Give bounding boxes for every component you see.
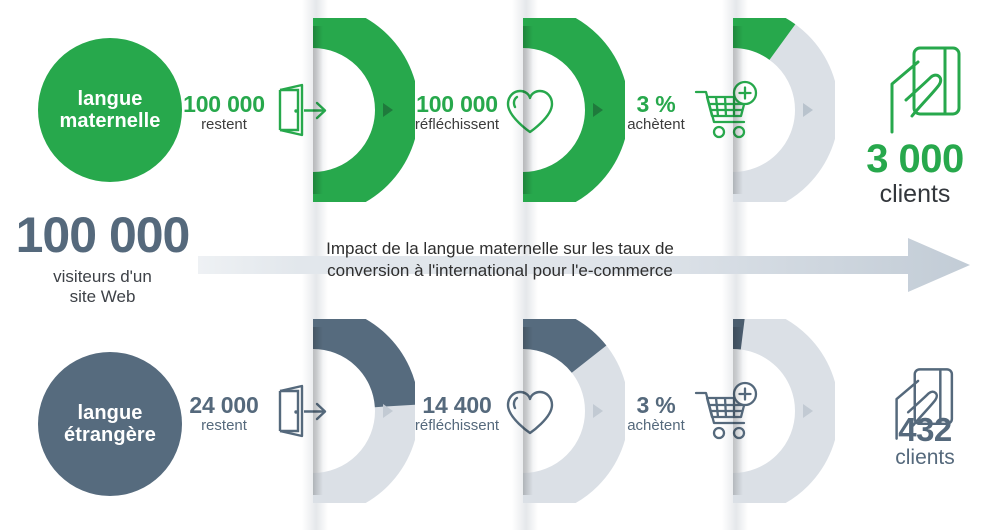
row-native-step-1-text: 100 000 restent xyxy=(178,93,270,133)
source-label-line1: visiteurs d'un xyxy=(0,267,205,287)
row-native-donut-2 xyxy=(515,18,625,202)
center-caption-line1: Impact de la langue maternelle sur les t… xyxy=(326,239,674,258)
hand-card-icon xyxy=(884,44,964,141)
source-label-line2: site Web xyxy=(0,287,205,307)
row-foreign-result: 432 clients xyxy=(850,414,1000,469)
row-foreign-step-2-label: réfléchissent xyxy=(398,418,516,433)
row-foreign-circle-line2: étrangère xyxy=(64,424,156,446)
row-foreign-step-1-number: 24 000 xyxy=(178,394,270,417)
row-native-donut-3 xyxy=(725,18,835,202)
row-native-circle-line1: langue xyxy=(77,88,142,110)
row-native-step-2-label: réfléchissent xyxy=(398,117,516,132)
row-native-step-3-label: achètent xyxy=(620,117,692,132)
row-foreign-donut-3 xyxy=(725,319,835,503)
row-foreign-step-3-label: achètent xyxy=(620,418,692,433)
center-caption: Impact de la langue maternelle sur les t… xyxy=(290,238,710,282)
row-foreign-step-3-number: 3 % xyxy=(620,394,692,417)
center-caption-line2: conversion à l'international pour l'e-co… xyxy=(327,261,673,280)
row-native-step-3-text: 3 % achètent xyxy=(620,93,692,133)
row-foreign-circle: langue étrangère xyxy=(38,352,182,496)
row-native-result: 3 000 clients xyxy=(830,140,1000,207)
row-native-sep-1 xyxy=(383,103,393,117)
row-native-step-2-number: 100 000 xyxy=(398,93,516,116)
row-foreign-step-1-label: restent xyxy=(178,418,270,433)
row-native-circle: langue maternelle xyxy=(38,38,182,182)
row-foreign-result-label: clients xyxy=(850,447,1000,469)
row-native-result-number: 3 000 xyxy=(830,140,1000,179)
row-foreign-result-number: 432 xyxy=(850,414,1000,446)
row-foreign-sep-3 xyxy=(803,404,813,418)
row-native-sep-2 xyxy=(593,103,603,117)
row-foreign-donut-2 xyxy=(515,319,625,503)
source-figure: 100 000 visiteurs d'un site Web xyxy=(0,212,205,307)
row-foreign-sep-2 xyxy=(593,404,603,418)
source-number: 100 000 xyxy=(0,212,205,260)
row-foreign-step-2-number: 14 400 xyxy=(398,394,516,417)
row-native-result-label: clients xyxy=(830,181,1000,207)
row-native-step-1-label: restent xyxy=(178,117,270,132)
row-foreign-sep-1 xyxy=(383,404,393,418)
row-native-step-3-number: 3 % xyxy=(620,93,692,116)
infographic-canvas: langue maternelle 100 000 restent xyxy=(0,0,1000,530)
row-native-step-1-number: 100 000 xyxy=(178,93,270,116)
row-foreign-step-3-text: 3 % achètent xyxy=(620,394,692,434)
row-foreign-circle-line1: langue xyxy=(77,402,142,424)
row-native-circle-line2: maternelle xyxy=(59,110,160,132)
row-native-sep-3 xyxy=(803,103,813,117)
row-foreign-step-1-text: 24 000 restent xyxy=(178,394,270,434)
row-native-step-2-text: 100 000 réfléchissent xyxy=(398,93,516,133)
row-foreign-step-2-text: 14 400 réfléchissent xyxy=(398,394,516,434)
